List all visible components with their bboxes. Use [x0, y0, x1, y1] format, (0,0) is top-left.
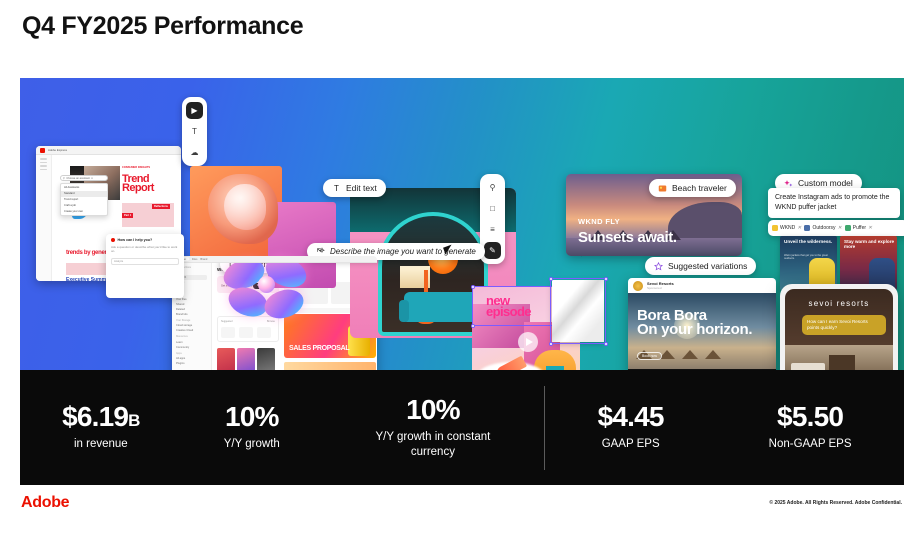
sales-card-text: SALES PROPOSAL — [289, 346, 349, 352]
document-headline: Trend Report — [122, 175, 154, 194]
recent-thumb[interactable] — [217, 348, 235, 370]
shape-arch — [534, 350, 576, 370]
sunsets-brand: WKND FLY — [578, 217, 620, 226]
chip-swatch-icon — [845, 225, 851, 231]
page-title: Q4 FY2025 Performance — [22, 12, 303, 41]
play-button-icon[interactable] — [518, 332, 538, 352]
model-sparkle-icon — [784, 179, 793, 188]
flower-core — [258, 276, 275, 293]
chip-label: WKND — [780, 225, 795, 231]
phone-brand-header: sevoi resorts — [785, 299, 893, 308]
sparkle-star-icon — [654, 262, 663, 271]
metric-non-gaap-eps: $5.50 Non-GAAP EPS — [763, 403, 858, 451]
chip-label: Puffer — [853, 225, 866, 231]
episode-line-2: episode — [486, 307, 531, 318]
post-headline-line-2: On your horizon. — [637, 323, 752, 337]
document-sidebar[interactable] — [36, 155, 52, 281]
nav-line — [40, 165, 47, 167]
post-account-sub: Sponsored — [647, 286, 674, 290]
nav-line — [40, 158, 47, 160]
assistant-input-placeholder: Analyze — [114, 260, 123, 263]
avatar — [633, 281, 643, 291]
chip-puffer[interactable]: Puffer ✕ — [845, 225, 872, 231]
resize-handle[interactable] — [471, 285, 475, 289]
ad-title: Unveil the wilderness. — [784, 240, 832, 245]
hut — [682, 350, 698, 359]
resize-handle[interactable] — [471, 324, 475, 328]
chip-swatch-icon — [804, 225, 810, 231]
image-cta-button[interactable]: Book now — [637, 352, 662, 360]
metric-yy-growth: 10% Y/Y growth — [218, 403, 286, 451]
sidebar-group: Apps All apps Plugins — [176, 353, 207, 366]
search-icon: ⚲ — [63, 177, 65, 180]
close-icon[interactable]: ✕ — [868, 225, 872, 231]
episode-headline: new episode — [486, 296, 531, 317]
wood-panel-shape — [829, 355, 855, 370]
text-cursor-icon: T — [332, 184, 341, 193]
post-header: Sevoi Resorts Sponsored — [628, 278, 776, 293]
metric-value: $6.19B — [62, 403, 140, 431]
flower-3d-render — [220, 238, 312, 330]
suggested-variations-pill[interactable]: Suggested variations — [645, 257, 756, 275]
document-kicker: CONSUMER INSIGHTS — [122, 166, 150, 169]
adjust-sliders-icon[interactable]: ≡ — [484, 221, 501, 238]
post-headline: Bora Bora On your horizon. — [637, 309, 752, 338]
dashboard-tabbar[interactable]: Home Files Brand — [172, 256, 377, 263]
assistant-input[interactable]: Analyze — [111, 258, 179, 265]
audience-icon — [658, 184, 667, 193]
recent-thumb[interactable] — [237, 348, 255, 370]
hut — [705, 350, 721, 359]
asset-selection-box[interactable] — [550, 278, 606, 344]
ai-assistant-panel: How can I help you? Ask a question or de… — [106, 234, 184, 298]
assistant-subtitle: Ask a question or describe what you'd li… — [111, 245, 179, 254]
generate-icon — [316, 247, 325, 256]
chip-swatch-icon — [772, 225, 778, 231]
generated-ads-row: Unveil the wilderness. Warm jackets that… — [780, 236, 897, 290]
nav-line — [40, 162, 47, 164]
teal-sofa — [404, 292, 478, 322]
beach-traveler-pill[interactable]: Beach traveler — [649, 179, 736, 197]
nav-line — [40, 169, 47, 171]
sunsets-headline: Sunsets await. — [578, 229, 677, 246]
metric-number: $6.19 — [62, 401, 128, 432]
left-tool-rail[interactable]: ▶ T ☁ — [182, 97, 207, 166]
sidebar-item[interactable]: Community — [176, 345, 207, 350]
metric-value: 10% — [364, 396, 502, 424]
metric-label: Non-GAAP EPS — [769, 437, 852, 451]
close-icon[interactable]: ✕ — [797, 225, 801, 231]
assistant-logo-icon — [111, 238, 115, 242]
sidebar-item[interactable]: Plugins — [176, 361, 207, 366]
sidebar-item[interactable]: Brand kits — [176, 312, 207, 317]
comment-bubble-icon[interactable]: □ — [484, 200, 501, 217]
chip-wknd[interactable]: WKND ✕ — [772, 225, 801, 231]
text-tool-icon[interactable]: T — [186, 123, 203, 140]
sevoi-social-post: Sevoi Resorts Sponsored Bora Bora On you… — [628, 278, 776, 370]
sidebar-group: Your Storage Cloud storage Creative Clou… — [176, 320, 207, 333]
resize-handle[interactable] — [604, 342, 608, 346]
prompt-input-box[interactable]: Create Instagram ads to promote the WKND… — [768, 188, 900, 218]
assistant-title: How can I help you? — [118, 238, 153, 242]
metric-value: $4.45 — [598, 403, 664, 431]
chip-outdoorsy[interactable]: Outdoorsy ✕ — [804, 225, 841, 231]
edit-text-label: Edit text — [346, 183, 377, 193]
post-image: Bora Bora On your horizon. Book now — [628, 293, 776, 369]
metric-revenue: $6.19B in revenue — [56, 403, 146, 451]
metric-yy-growth-cc: 10% Y/Y growth in constant currency — [358, 396, 508, 459]
ad-title: Stay warm and explore more — [844, 240, 897, 250]
sidebar-group-title: Apps — [176, 353, 207, 355]
dashboard-bottom-strip — [284, 362, 376, 370]
part-chip-2: Reflections — [152, 204, 170, 209]
beach-traveler-label: Beach traveler — [672, 183, 727, 193]
recent-thumb[interactable] — [257, 348, 275, 370]
metrics-group-left: $6.19B in revenue 10% Y/Y growth 10% Y/Y… — [20, 396, 544, 459]
sidebar-item[interactable]: Creative Cloud — [176, 328, 207, 333]
bed-shape — [791, 363, 825, 370]
suggested-variations-label: Suggested variations — [668, 261, 747, 271]
generate-tool-icon[interactable]: ▶ — [186, 102, 203, 119]
assistant-select[interactable]: ⚲ Choose an assistant ▾ — [60, 175, 108, 181]
close-icon[interactable]: ✕ — [838, 225, 842, 231]
document-titlebar: Adobe Express — [36, 146, 181, 155]
upload-tool-icon[interactable]: ☁ — [186, 144, 203, 161]
edit-text-pill[interactable]: T Edit text — [323, 179, 386, 197]
prompt-text: Create Instagram ads to promote the WKND… — [775, 194, 889, 211]
post-account-name: Sevoi Resorts Sponsored — [647, 281, 674, 290]
hotel-room-image — [785, 345, 893, 370]
assistant-dropdown-menu[interactable]: All Assistants Standard Trend report Cra… — [60, 183, 108, 216]
search-icon[interactable]: ⚲ — [484, 179, 501, 196]
assistant-title-row: How can I help you? — [111, 238, 179, 242]
resize-handle[interactable] — [549, 342, 553, 346]
metric-label: Y/Y growth in constant currency — [364, 430, 502, 459]
hero-composite-image: Adobe Express CONSUMER INSIGHTS Trend Re… — [20, 78, 904, 370]
assistant-select-value: Choose an assistant — [66, 177, 90, 180]
phone-mockup: sevoi resorts How can I earn Sevoi Resor… — [780, 284, 898, 370]
metric-label: in revenue — [62, 437, 140, 451]
metric-label: Y/Y growth — [224, 437, 280, 451]
phone-screen: sevoi resorts How can I earn Sevoi Resor… — [785, 289, 893, 370]
describe-image-label: Describe the image you want to generate — [330, 247, 476, 256]
chevron-down-icon: ▾ — [91, 177, 92, 180]
sales-line-2: PROPOSAL — [313, 345, 350, 352]
model-chip-bar[interactable]: WKND ✕ Outdoorsy ✕ Puffer ✕ — [768, 220, 904, 236]
resize-handle[interactable] — [604, 277, 608, 281]
ad-card-wilderness[interactable]: Unveil the wilderness. Warm jackets that… — [780, 236, 837, 290]
recent-thumbnails[interactable] — [217, 348, 275, 370]
adobe-logo: Adobe — [21, 494, 69, 512]
sidebar-group-title: Resources — [176, 336, 207, 338]
dropdown-option[interactable]: Create your own — [61, 208, 107, 214]
metrics-group-right: $4.45 GAAP EPS $5.50 Non-GAAP EPS — [545, 403, 904, 451]
tab-files[interactable]: Files — [192, 258, 197, 261]
metrics-band: $6.19B in revenue 10% Y/Y growth 10% Y/Y… — [20, 370, 904, 485]
app-logo-icon — [40, 148, 45, 153]
custom-model-label: Custom model — [798, 178, 853, 188]
tab-brand[interactable]: Brand — [200, 258, 207, 261]
app-label: Adobe Express — [48, 148, 67, 152]
retouch-brush-icon[interactable]: ✎ — [484, 242, 501, 259]
resize-handle[interactable] — [549, 277, 553, 281]
sales-line-1: SALES — [289, 345, 311, 352]
metric-value: 10% — [224, 403, 280, 431]
ad-card-staywarm[interactable]: Stay warm and explore more — [840, 236, 897, 290]
part-chip-1: Part 1 — [122, 213, 133, 218]
metric-value: $5.50 — [769, 403, 852, 431]
user-message-bubble: How can I earn Sevoi Resorts points quic… — [802, 315, 886, 335]
chip-label: Outdoorsy — [812, 225, 835, 231]
metric-gaap-eps: $4.45 GAAP EPS — [592, 403, 670, 451]
metric-unit: B — [128, 411, 139, 430]
copyright-notice: © 2025 Adobe. All Rights Reserved. Adobe… — [769, 500, 902, 506]
sidebar-group-title: Your Storage — [176, 320, 207, 322]
metric-label: GAAP EPS — [598, 437, 664, 451]
sidebar-group: Resources Learn Community — [176, 336, 207, 349]
headline-line-2: Report — [122, 184, 154, 193]
